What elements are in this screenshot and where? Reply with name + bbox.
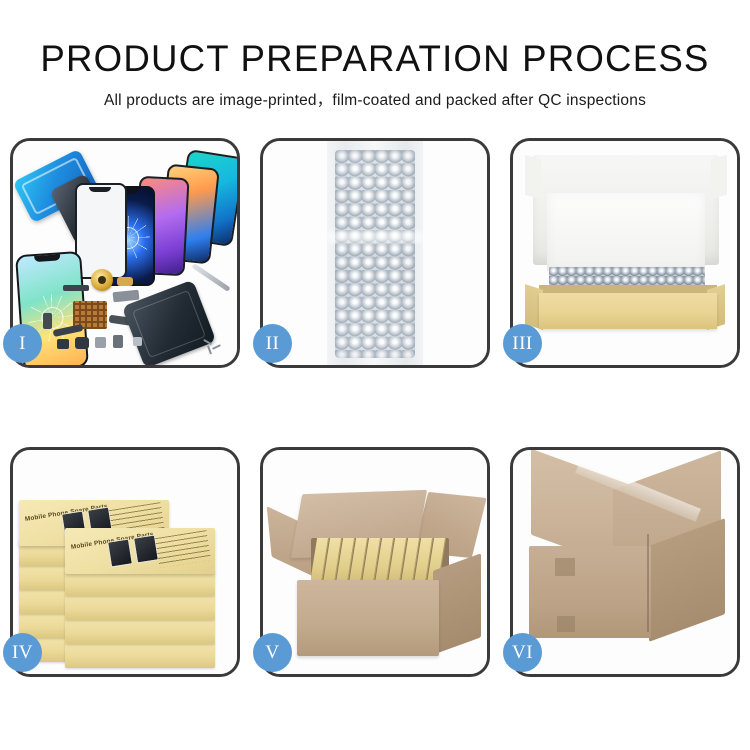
step-image-stacked-boxes: Mobile Phone Spare Parts Mobile Phone Sp… <box>13 450 237 674</box>
small-part-icon <box>57 339 69 349</box>
step-badge-2: II <box>253 324 292 363</box>
step-panel-2[interactable]: II <box>260 138 490 368</box>
step-badge-5: V <box>253 633 292 672</box>
step-image-bubble-wrap <box>263 141 487 365</box>
step-panel-5[interactable]: V <box>260 447 490 677</box>
step-badge-6: VI <box>503 633 542 672</box>
speaker-coil-icon <box>91 269 113 291</box>
small-part-icon <box>113 335 123 348</box>
small-part-icon <box>43 313 52 329</box>
carton-side-icon <box>433 553 481 654</box>
step-badge-1: I <box>3 324 42 363</box>
box-front-icon <box>539 293 717 329</box>
step-panel-4[interactable]: Mobile Phone Spare Parts Mobile Phone Sp… <box>10 447 240 677</box>
tweezers-icon <box>191 263 230 292</box>
step-badge-3: III <box>503 324 542 363</box>
screws-icon <box>203 337 227 353</box>
step-badge-4: IV <box>3 633 42 672</box>
box-stack-icon: Mobile Phone Spare Parts Mobile Phone Sp… <box>17 466 233 662</box>
step-image-kraft-box-open <box>513 141 737 365</box>
page-subtitle: All products are image-printed，film-coat… <box>0 90 750 112</box>
stacked-box-lid: Mobile Phone Spare Parts <box>65 528 215 574</box>
step-panel-1[interactable]: I <box>10 138 240 368</box>
connector-icon <box>117 277 133 286</box>
carton-seam-icon <box>647 534 649 632</box>
step-panel-6[interactable]: VI <box>510 447 740 677</box>
carton-front-icon <box>529 546 651 638</box>
screen-glass-icon <box>75 183 127 279</box>
small-part-icon <box>75 337 89 349</box>
carton-handle-patch-icon <box>555 558 575 576</box>
step-image-carton-sealed <box>513 450 737 674</box>
product-preparation-page: PRODUCT PREPARATION PROCESS All products… <box>0 0 750 750</box>
box-spec-lines-icon <box>155 530 211 568</box>
small-part-icon <box>95 337 106 348</box>
step-image-carton-open <box>263 450 487 674</box>
carton-front-icon <box>297 580 439 656</box>
process-row-1: I II <box>0 138 750 368</box>
stacked-box <box>65 594 215 620</box>
foam-sheet-icon <box>547 193 705 271</box>
step-image-phone-parts <box>13 141 237 365</box>
chip-icon <box>63 285 89 291</box>
stacked-box <box>65 618 215 644</box>
stacked-box <box>65 642 215 668</box>
carton-handle-patch-icon <box>557 616 575 632</box>
step-panel-3[interactable]: III <box>510 138 740 368</box>
small-part-icon <box>133 337 142 346</box>
page-title: PRODUCT PREPARATION PROCESS <box>4 36 747 82</box>
bubble-wrap-icon <box>335 150 415 358</box>
page-header: PRODUCT PREPARATION PROCESS All products… <box>0 0 750 112</box>
process-grid: I II <box>0 138 750 677</box>
film-sheen-icon <box>327 231 423 243</box>
process-row-2: Mobile Phone Spare Parts Mobile Phone Sp… <box>0 447 750 677</box>
box-screen-print-icon <box>107 538 133 567</box>
